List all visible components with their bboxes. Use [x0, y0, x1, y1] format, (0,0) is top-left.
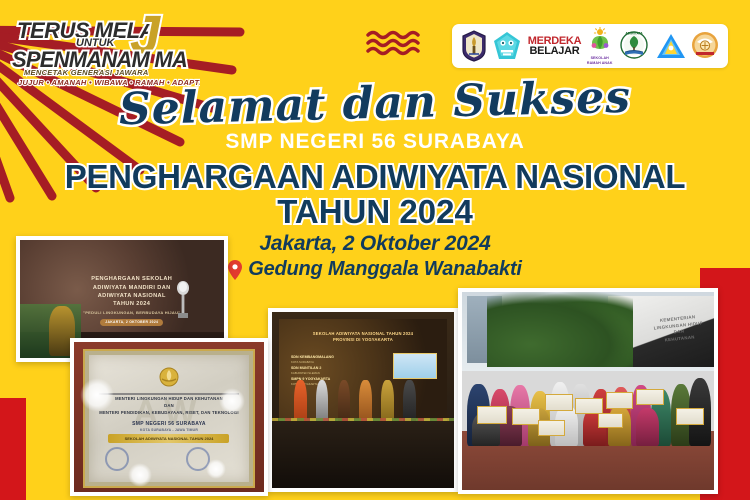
wave-decoration-svg	[366, 30, 422, 56]
slogan-tagline-1: MENCETAK GENERASI JAWARA	[24, 68, 149, 77]
award-title-line1: PENGHARGAAN ADIWIYATA NASIONAL	[0, 158, 750, 196]
surabaya-city-emblem-icon	[461, 28, 487, 64]
backdrop-line-3: ADIWIYATA NASIONAL	[83, 292, 181, 300]
certificate-band: SEKOLAH ADIWIYATA NASIONAL TAHUN 2024	[108, 434, 229, 443]
partner-logo-strip: MERDEKA BELAJAR	[452, 24, 728, 68]
backdrop-tagline: "PEDULI LINGKUNGAN, BERBUDAYA HIJAU"	[83, 310, 181, 316]
certificate-stamp-left	[105, 447, 129, 471]
certificate-paper: AW MENTERI LINGKUNGAN HIDUP DAN KEHUTANA…	[85, 351, 252, 486]
merdeka-belajar-logo: MERDEKA BELAJAR	[528, 28, 582, 64]
award-screen-line-2: PROVINSI DI YOGYAKARTA	[279, 337, 446, 343]
sekolah-penggerak-icon	[656, 28, 686, 64]
svg-text:ADIWIYATA: ADIWIYATA	[626, 32, 644, 36]
certificate-subschool: KOTA SURABAYA - JAWA TIMUR	[89, 428, 248, 432]
kemendikbud-icon	[691, 28, 719, 64]
photo-certificate: AW MENTERI LINGKUNGAN HIDUP DAN KEHUTANA…	[70, 338, 268, 496]
sekolah-ramah-anak-logo: SEKOLAH RAMAH ANAK	[587, 28, 613, 64]
backdrop-date-pill: JAKARTA, 2 OKTOBER 2024	[100, 319, 163, 326]
event-venue: Gedung Manggala Wanabakti	[248, 258, 522, 281]
photo-group-awardees: KEMENTERIAN LINGKUNGAN HIDUP DAN KEHUTAN…	[458, 288, 718, 494]
award-title-line2: TAHUN 2024	[0, 193, 750, 231]
sekolah-ramah-anak-icon	[587, 27, 613, 51]
certificate-emblem-icon	[158, 366, 180, 388]
tut-wuri-handayani-icon	[492, 28, 522, 64]
ministry-building-text: KEMENTERIAN LINGKUNGAN HIDUP DAN KEHUTAN…	[653, 313, 705, 344]
stage-backdrop-text: PENGHARGAAN SEKOLAH ADIWIYATA MANDIRI DA…	[83, 275, 181, 325]
certificate-glare-3	[128, 463, 152, 487]
award-screen-title: SEKOLAH ADIWIYATA NASIONAL TAHUN 2024 PR…	[279, 331, 446, 344]
backdrop-line-1: PENGHARGAAN SEKOLAH	[83, 275, 181, 283]
certificate-school: SMP NEGERI 56 SURABAYA	[89, 421, 248, 427]
adiwiyata-icon: ADIWIYATA	[618, 28, 650, 64]
award-audience	[272, 421, 454, 488]
backdrop-line-4: TAHUN 2024	[83, 300, 181, 308]
sra-label-1: SEKOLAH	[587, 56, 613, 60]
group-crowd	[462, 359, 714, 446]
backdrop-line-2: ADIWIYATA MANDIRI DAN	[83, 284, 181, 292]
location-pin-icon	[228, 260, 242, 280]
certificate-glare-4	[206, 459, 226, 479]
photo-award-handover: SEKOLAH ADIWIYATA NASIONAL TAHUN 2024 PR…	[268, 308, 458, 492]
certificate-glare-1	[80, 378, 114, 412]
poster-canvas: TERUS MELA J UNTUK SPENMANAM MA MENCETAK…	[0, 0, 750, 500]
belajar-label: BELAJAR	[528, 46, 582, 56]
red-block-bottom-left	[0, 398, 26, 500]
school-name: SMP NEGERI 56 SURABAYA	[0, 130, 750, 154]
group-trees	[487, 292, 633, 367]
sra-label-2: RAMAH ANAK	[587, 61, 613, 65]
wave-decoration	[366, 30, 422, 56]
